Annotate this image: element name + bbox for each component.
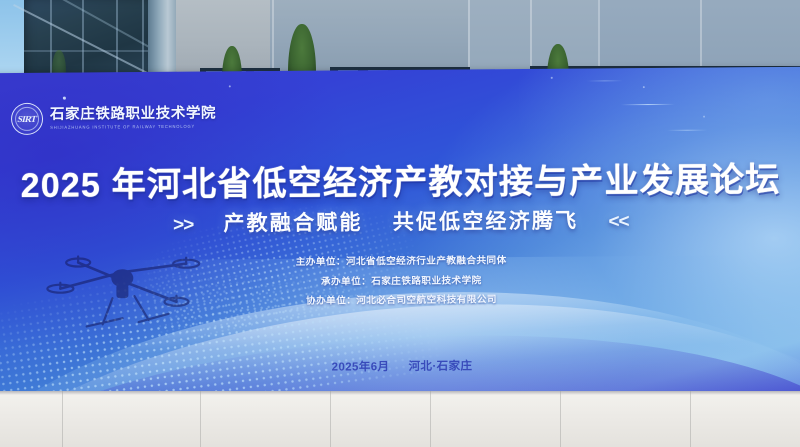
facade-panel-c [468, 0, 600, 72]
chevron-right-icon: >> [173, 215, 193, 236]
institute-name-cn: 石家庄铁路职业技术学院 [50, 107, 216, 123]
event-location: 河北·石家庄 [409, 360, 473, 373]
institute-crest-icon: SIRT [11, 103, 43, 135]
screenshot-root: SIRT 石家庄铁路职业技术学院 SHIJIAZHUANG INSTITUTE … [0, 0, 800, 447]
subtitle-text-left: 产教融合赋能 [223, 211, 362, 235]
organizer-list: 主办单位：河北省低空经济行业产教融合共同体 承办单位：石家庄铁路职业技术学院 协… [0, 249, 800, 314]
chevron-left-icon: << [608, 211, 628, 232]
forum-subtitle: >> 产教融合赋能 共促低空经济腾飞 << [0, 203, 800, 239]
institute-name-en: SHIJIAZHUANG INSTITUTE OF RAILWAY TECHNO… [50, 124, 216, 130]
subtitle-text-right: 共促低空经济腾飞 [393, 210, 579, 234]
crest-monogram: SIRT [16, 114, 37, 124]
forum-banner: SIRT 石家庄铁路职业技术学院 SHIJIAZHUANG INSTITUTE … [0, 67, 800, 411]
facade-panel-d [598, 0, 800, 70]
glass-curtain-wall [24, 0, 156, 80]
lower-wall [0, 391, 800, 447]
forum-title: 2025 年河北省低空经济产教对接与产业发展论坛 [0, 152, 800, 207]
event-date: 2025年6月 [332, 361, 390, 373]
institute-logo: SIRT 石家庄铁路职业技术学院 SHIJIAZHUANG INSTITUTE … [11, 101, 216, 135]
